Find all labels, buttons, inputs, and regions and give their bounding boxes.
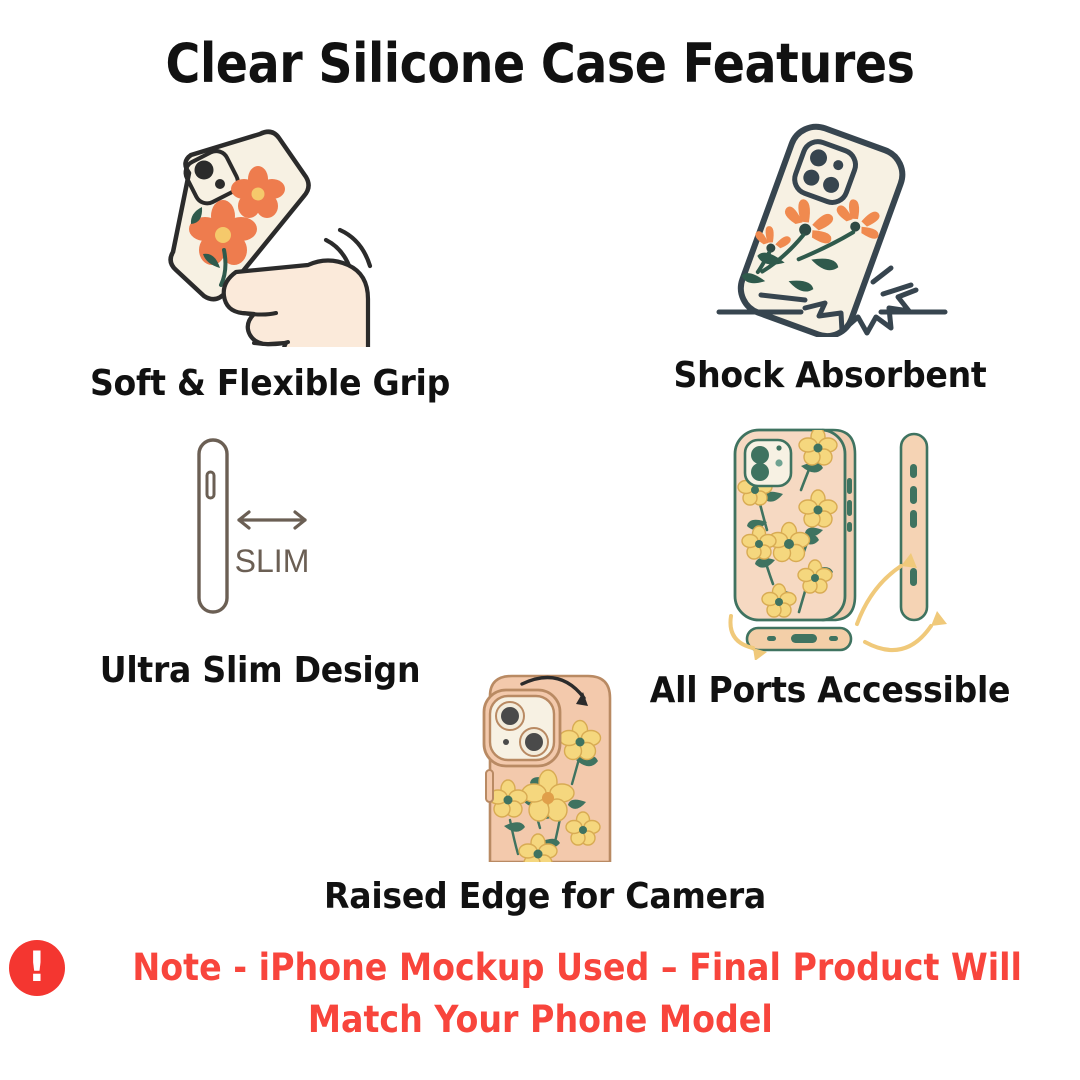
feature-soft-flexible-grip: Soft & Flexible Grip [20, 122, 520, 404]
feature-raised-edge-for-camera: Raised Edge for Camera [300, 662, 790, 917]
phone-case-back-side-bottom-ports-icon [610, 420, 1050, 660]
feature-shock-absorbent: Shock Absorbent [600, 122, 1060, 396]
warning-glyph: ! [27, 946, 46, 988]
note-line-2: Match Your Phone Model [308, 998, 773, 1041]
phone-side-profile-width-arrow-icon: SLIM [40, 430, 480, 620]
feature-caption: Soft & Flexible Grip [40, 363, 500, 404]
feature-caption: Shock Absorbent [618, 355, 1041, 396]
mockup-disclaimer-note: ! Note - iPhone Mockup Used – Final Prod… [0, 940, 1080, 1041]
phone-camera-raised-bezel-closeup-icon [300, 662, 790, 862]
feature-ultra-slim-design: SLIM Ultra Slim Design [40, 430, 480, 691]
note-line-1: Note - iPhone Mockup Used – Final Produc… [132, 941, 1022, 995]
infographic-page: Clear Silicone Case Features [0, 0, 1080, 1080]
hand-holding-flexing-phone-case-icon [20, 122, 520, 347]
warning-exclamation-icon: ! [9, 940, 65, 996]
page-title: Clear Silicone Case Features [65, 32, 1015, 95]
slim-arrow-label: SLIM [235, 543, 310, 579]
feature-caption: Raised Edge for Camera [320, 876, 771, 917]
phone-case-dropping-impact-burst-icon [600, 122, 1060, 337]
